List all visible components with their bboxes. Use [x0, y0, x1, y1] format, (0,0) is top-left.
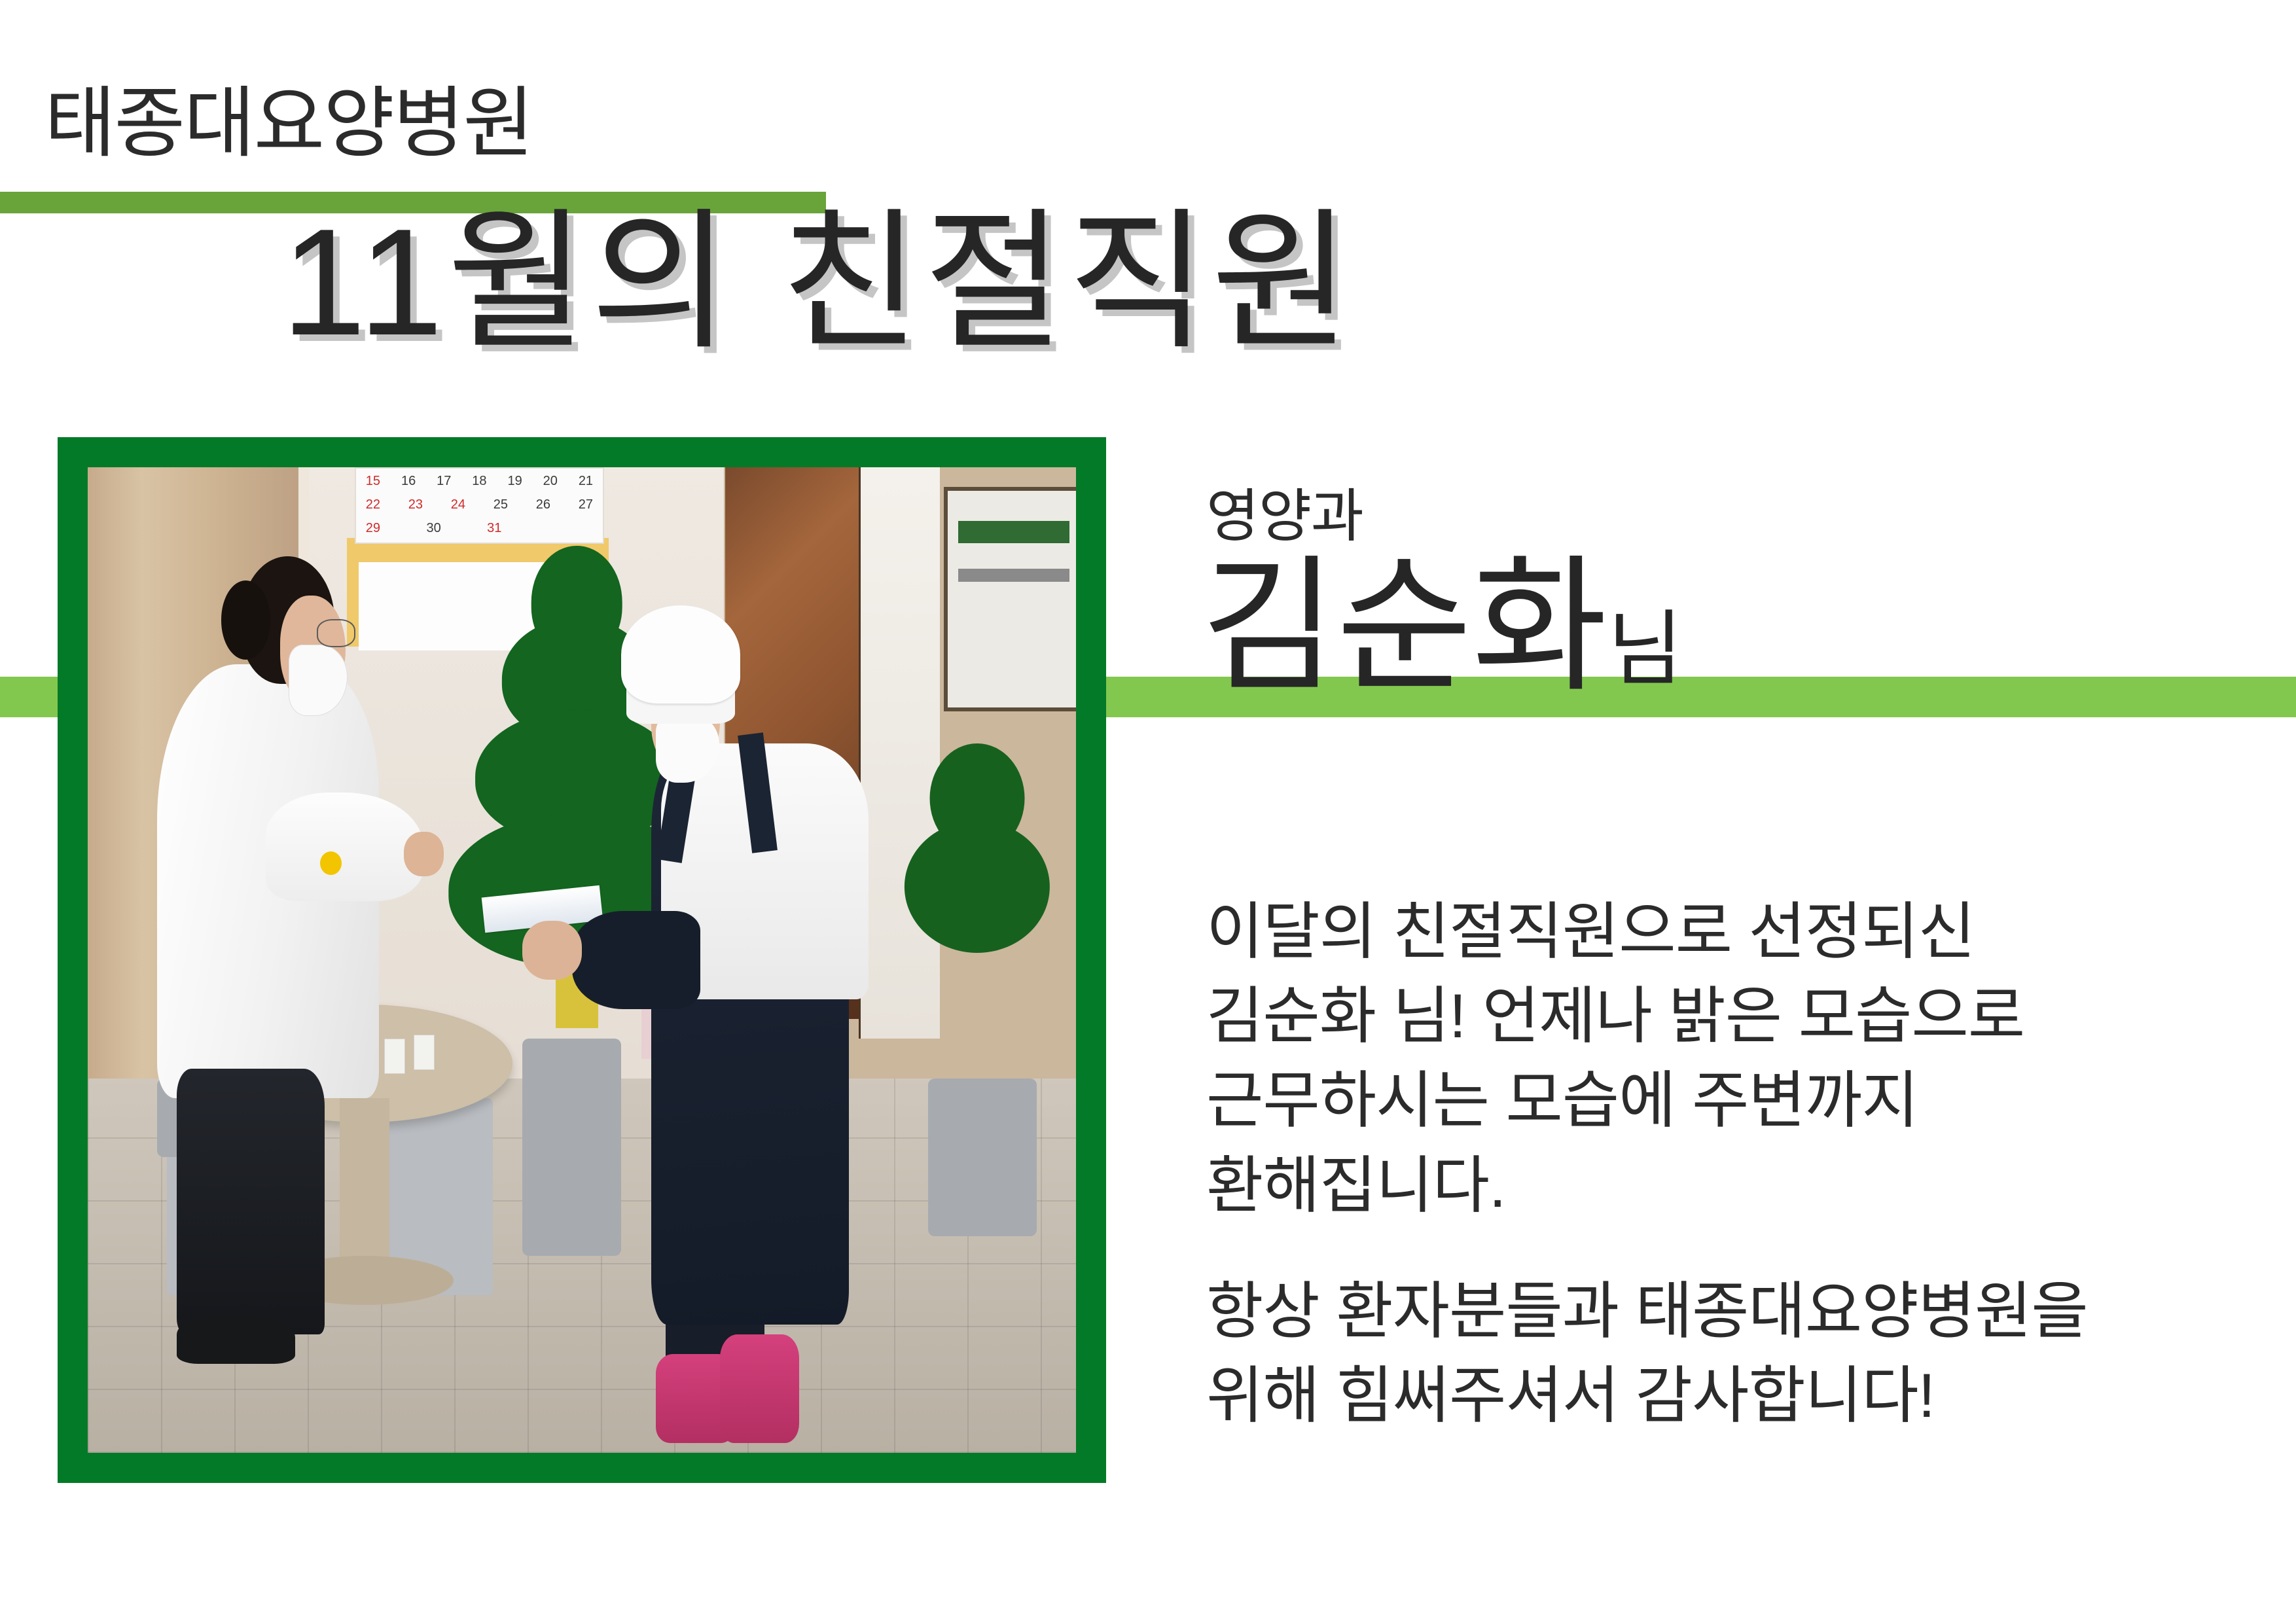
cal-num: 24: [451, 497, 465, 512]
calendar-row-1: 15 16 17 18 19 20 21: [366, 472, 593, 491]
photo-frame: 15 16 17 18 19 20 21 22 23 24 25 26 27: [58, 437, 1106, 1483]
page-title: 11월의 친절직원: [281, 203, 1355, 363]
cal-num: 26: [536, 497, 550, 512]
cal-num: 25: [493, 497, 508, 512]
person-left-hand: [404, 832, 443, 876]
poster-canvas: 태종대요양병원 11월의 친절직원 15 16 17 18 19 20 21: [0, 0, 2296, 1623]
message-paragraph-2: 항상 환자분들과 태종대요양병원을 위해 힘써주셔서 감사합니다!: [1206, 1270, 2088, 1438]
cal-num: 23: [408, 497, 423, 512]
honoree-name: 김순화: [1201, 544, 1607, 709]
cal-num: 29: [366, 521, 380, 536]
cal-num: 17: [437, 474, 451, 489]
person-right-hand: [522, 921, 582, 980]
hospital-name: 태종대요양병원: [45, 85, 533, 162]
calendar-row-2: 22 23 24 25 26 27: [366, 495, 593, 514]
christmas-tree-small: [898, 743, 1056, 1020]
cal-num: 30: [426, 521, 440, 536]
person-right-chef-cap: [621, 605, 740, 704]
person-right-boot-right: [720, 1334, 799, 1443]
cal-num: 27: [579, 497, 593, 512]
message-paragraph-1: 이달의 친절직원으로 선정되신 김순화 님! 언제나 밝은 모습으로 근무하시는…: [1206, 890, 2024, 1228]
honoree-name-suffix: 님: [1607, 604, 1683, 695]
person-left-shoes: [177, 1315, 295, 1364]
honoree-name-block: 김순화님: [1201, 553, 1683, 700]
cal-num: 20: [543, 474, 558, 489]
person-right-arm: [572, 911, 700, 1010]
cal-num: 15: [366, 474, 380, 489]
wall-notice-frame: [944, 487, 1076, 711]
person-left-arm: [266, 793, 424, 901]
award-photo: 15 16 17 18 19 20 21 22 23 24 25 26 27: [88, 467, 1076, 1453]
cal-num: 16: [401, 474, 416, 489]
cal-num: 21: [579, 474, 593, 489]
department-label: 영양과: [1206, 470, 1363, 553]
cal-num: 22: [366, 497, 380, 512]
table-leg: [340, 1098, 389, 1275]
person-left-glasses: [317, 619, 355, 647]
cal-num: 19: [507, 474, 522, 489]
cal-num: 18: [472, 474, 486, 489]
person-left-trousers: [177, 1069, 325, 1335]
person-left-hair-bun: [221, 580, 271, 659]
calendar-row-3: 29 30 31: [366, 519, 502, 538]
cal-num: 31: [487, 521, 501, 536]
calendar-grid: 15 16 17 18 19 20 21 22 23 24 25 26 27: [355, 467, 605, 544]
chair-far-right: [928, 1079, 1037, 1236]
chair-right: [522, 1039, 621, 1255]
